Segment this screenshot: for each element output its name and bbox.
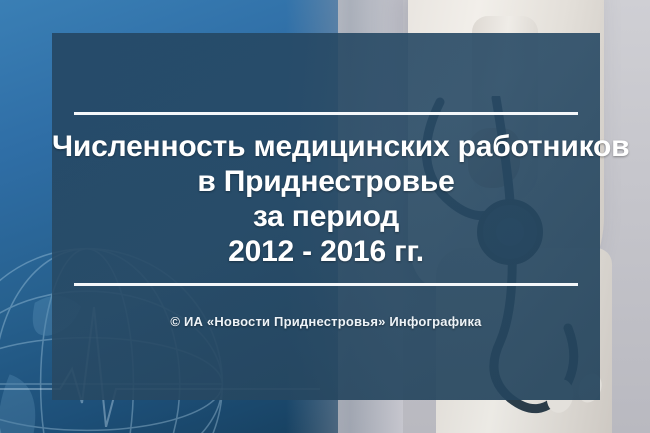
title-line-3: за период (52, 199, 600, 234)
title-panel: Численность медицинских работников в При… (52, 33, 600, 400)
divider-bottom (74, 283, 578, 286)
divider-top (74, 112, 578, 115)
title-line-1: Численность медицинских работников (52, 129, 600, 164)
page-title: Численность медицинских работников в При… (52, 129, 600, 269)
credit-line: © ИА «Новости Приднестровья» Инфографика (170, 314, 481, 329)
infographic-canvas: Численность медицинских работников в При… (0, 0, 650, 433)
title-line-4: 2012 - 2016 гг. (52, 234, 600, 269)
title-line-2: в Приднестровье (52, 164, 600, 199)
